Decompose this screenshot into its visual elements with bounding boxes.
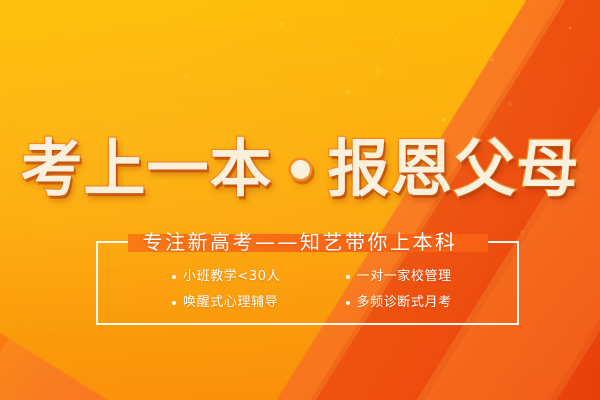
feature-item: 唤醒式心理辅导 xyxy=(172,292,346,314)
headline-left: 考上一本 xyxy=(20,138,272,200)
feature-label: 一对一家校管理 xyxy=(357,266,452,288)
feature-item: 多频诊断式月考 xyxy=(346,292,520,314)
feature-item: 小班教学<30人 xyxy=(172,266,346,288)
bullet-dot-icon xyxy=(346,301,350,305)
headline-right: 报恩父母 xyxy=(328,138,580,200)
feature-item: 一对一家校管理 xyxy=(346,266,520,288)
bullet-dot-icon xyxy=(172,301,176,305)
subtitle: 专注新高考——知艺带你上本科 xyxy=(0,229,600,255)
bullet-dot-icon xyxy=(346,275,350,279)
dot-separator-icon xyxy=(291,160,310,179)
feature-label: 唤醒式心理辅导 xyxy=(183,292,278,314)
promo-banner: 考上一本 报恩父母 专注新高考——知艺带你上本科 小班教学<30人 一对一家校管… xyxy=(0,0,600,400)
headline: 考上一本 报恩父母 xyxy=(0,138,600,200)
bullet-dot-icon xyxy=(172,275,176,279)
feature-label: 小班教学<30人 xyxy=(183,266,280,288)
feature-label: 多频诊断式月考 xyxy=(357,292,452,314)
feature-list: 小班教学<30人 一对一家校管理 唤醒式心理辅导 多频诊断式月考 xyxy=(96,266,519,314)
